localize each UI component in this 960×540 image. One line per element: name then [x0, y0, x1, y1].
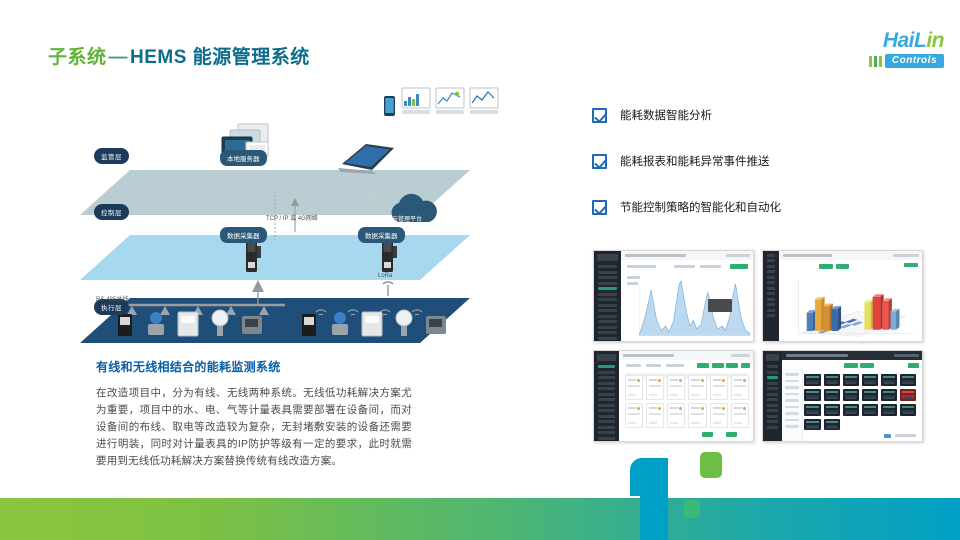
checklist-item[interactable]: 节能控制策略的智能化和自动化 — [592, 197, 932, 217]
mini-card — [710, 375, 728, 400]
caption-body: 在改造项目中，分为有线、无线两种系统。无线低功耗解决方案尤为重要，项目中的水、电… — [96, 385, 412, 470]
device-tile — [804, 374, 820, 386]
device-tile — [862, 404, 878, 416]
thumb-pagination[interactable] — [884, 434, 891, 438]
screenshot-gallery — [593, 250, 923, 442]
thumb-tree-panel — [782, 369, 803, 441]
brand-word-hai: HaiL — [883, 29, 927, 52]
wireless-label-lora: LoRa — [378, 273, 392, 279]
thumb-content — [621, 260, 753, 341]
screenshot-device-monitor-grid[interactable] — [762, 350, 923, 442]
brand-logo: HaiLin Controls — [822, 30, 944, 76]
mini-card — [667, 375, 685, 400]
thumb-3d-bar-chart — [782, 272, 919, 338]
page-title-dash: — — [107, 47, 131, 68]
checklist-item-label: 能耗报表和能耗异常事件推送 — [620, 153, 770, 169]
page-title: 子系统—HEMS 能源管理系统 — [48, 42, 310, 69]
footer-deco-teal-square — [684, 500, 700, 518]
brand-word-in: in — [926, 29, 944, 52]
device-tile — [843, 389, 859, 401]
brand-subline: Controls — [822, 54, 944, 68]
device-tile — [900, 404, 916, 416]
mobile-phone-icon — [384, 96, 395, 116]
mini-card — [625, 375, 643, 400]
mini-card — [688, 403, 706, 428]
caption-heading: 有线和无线相结合的能耗监测系统 — [96, 358, 426, 375]
checklist-item-label: 节能控制策略的智能化和自动化 — [620, 199, 781, 215]
device-tile — [900, 374, 916, 386]
device-tile — [824, 374, 840, 386]
thumb-pagination[interactable] — [702, 432, 713, 437]
mini-card — [731, 403, 749, 428]
checkbox-checked-icon[interactable] — [592, 200, 607, 215]
checklist-item[interactable]: 能耗数据智能分析 — [592, 105, 932, 125]
footer-deco-blue-square — [630, 458, 668, 496]
mini-card — [710, 403, 728, 428]
node-label-local-server: 本地服务器 — [220, 150, 267, 166]
page-title-main: HEMS 能源管理系统 — [130, 47, 310, 68]
device-tile — [824, 389, 840, 401]
device-tile — [804, 419, 820, 431]
screenshot-energy-trend-dashboard[interactable] — [593, 250, 754, 342]
layer-label-control: 控制层 — [94, 204, 129, 220]
thumb-sidebar — [763, 251, 779, 341]
feature-checklist: 能耗数据智能分析 能耗报表和能耗异常事件推送 节能控制策略的智能化和自动化 — [592, 105, 932, 243]
brand-controls-label: Controls — [885, 54, 944, 68]
mini-card — [688, 375, 706, 400]
device-tile — [881, 374, 897, 386]
device-tile — [824, 404, 840, 416]
footer-deco-green-square — [700, 452, 722, 478]
network-label: TCP / IP 或 4G网络 — [266, 213, 318, 222]
thumb-area-chart — [639, 278, 750, 336]
thumb-content — [782, 360, 922, 441]
mini-card — [667, 403, 685, 428]
checklist-item-label: 能耗数据智能分析 — [620, 107, 712, 123]
node-label-collector-right: 数据采集器 — [358, 227, 405, 243]
device-tile — [843, 374, 859, 386]
node-label-cloud-platform: 云管理平台 — [392, 214, 422, 223]
checkbox-checked-icon[interactable] — [592, 108, 607, 123]
thumb-content — [619, 360, 753, 441]
thumb-pagination[interactable] — [726, 432, 737, 437]
device-tile — [843, 404, 859, 416]
thumb-sidebar — [763, 351, 782, 441]
layer-label-management: 监管层 — [94, 148, 129, 164]
device-tile-alarm — [900, 389, 916, 401]
checkbox-checked-icon[interactable] — [592, 154, 607, 169]
footer-gradient-band — [0, 498, 960, 540]
architecture-diagram: 监管层 控制层 执行层 本地服务器 云管理平台 数据采集器 数据采集器 TCP … — [70, 80, 540, 350]
arrow-collector-bus-icon — [252, 280, 264, 292]
device-tile — [862, 374, 878, 386]
brand-wordmark: HaiLin — [822, 30, 944, 52]
node-label-collector-left: 数据采集器 — [220, 227, 267, 243]
mini-card — [625, 403, 643, 428]
brand-bars-icon — [869, 56, 882, 67]
mini-card — [646, 375, 664, 400]
device-tile — [881, 404, 897, 416]
thumb-sidebar — [594, 351, 619, 441]
thumb-chart-tooltip — [708, 299, 732, 312]
thumb-content — [779, 260, 922, 341]
footer-deco-blue-block — [640, 496, 668, 540]
thumb-sidebar — [594, 251, 621, 341]
device-tile — [824, 419, 840, 431]
screenshot-device-card-list[interactable] — [593, 350, 754, 442]
bus-label-rs485: RS-485总线 — [96, 294, 128, 303]
mini-card — [731, 375, 749, 400]
device-tile — [804, 389, 820, 401]
thumb-card-grid — [625, 375, 749, 428]
layer-plane-control — [80, 235, 470, 280]
device-tile — [804, 404, 820, 416]
mini-card — [646, 403, 664, 428]
device-tile — [881, 389, 897, 401]
device-tile — [862, 389, 878, 401]
thumb-device-grid — [804, 374, 916, 431]
laptop-icon — [338, 144, 394, 174]
screenshot-energy-3d-bar-dashboard[interactable] — [762, 250, 923, 342]
lora-antenna-icon — [383, 282, 393, 296]
checklist-item[interactable]: 能耗报表和能耗异常事件推送 — [592, 151, 932, 171]
page-title-prefix: 子系统 — [48, 47, 107, 68]
dashboard-preview-icons — [402, 88, 498, 114]
